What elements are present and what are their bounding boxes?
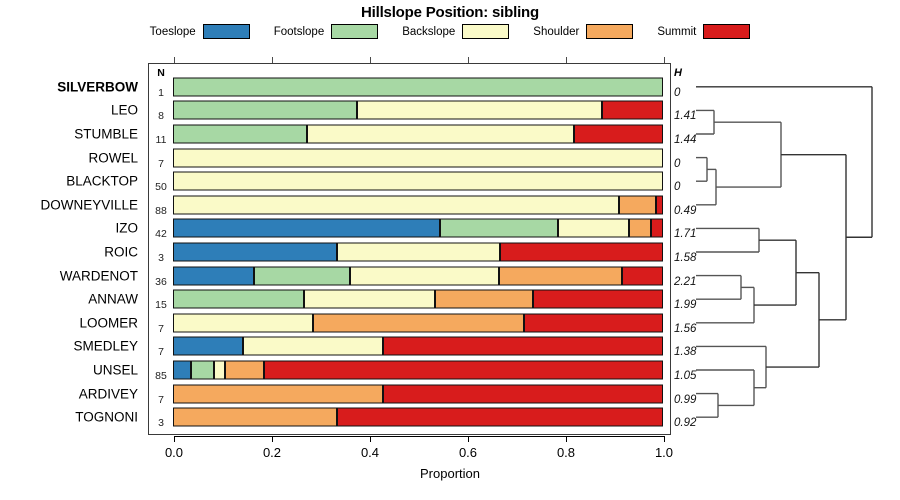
legend-label: Footslope: [274, 26, 325, 38]
row-label-ardivey: ARDIVEY: [79, 386, 138, 401]
bar-segment-summit: [524, 313, 664, 332]
legend-swatch-footslope: [331, 24, 378, 39]
bar-segment-footslope: [173, 125, 307, 144]
bar-segment-backslope: [173, 195, 619, 214]
row-label-blacktop: BLACKTOP: [66, 174, 138, 189]
stacked-bars: [174, 63, 664, 435]
legend-item-shoulder: Shoulder: [533, 24, 633, 39]
bar-segment-summit: [656, 195, 663, 214]
bar-segment-shoulder: [225, 361, 264, 380]
bar-row: [174, 243, 664, 262]
bar-segment-summit: [602, 101, 663, 120]
x-tick: [174, 436, 175, 442]
x-tick: [664, 436, 665, 442]
row-label-annaw: ANNAW: [88, 292, 138, 307]
dendrogram-svg: [676, 60, 900, 440]
bar-row: [174, 219, 664, 238]
row-label-roic: ROIC: [104, 245, 138, 260]
x-tick-label: 1.0: [634, 445, 694, 460]
legend-label: Shoulder: [533, 26, 579, 38]
bar-row: [174, 125, 664, 144]
bar-segment-summit: [264, 361, 663, 380]
chart-root: Hillslope Position: sibling ToeslopeFoot…: [0, 0, 900, 500]
bar-segment-backslope: [558, 219, 629, 238]
bar-segment-backslope: [173, 148, 663, 167]
bar-segment-footslope: [173, 290, 304, 309]
legend-item-backslope: Backslope: [402, 24, 509, 39]
x-axis-line: [174, 436, 664, 437]
legend-item-toeslope: Toeslope: [150, 24, 250, 39]
bar-segment-summit: [500, 243, 663, 262]
bar-segment-summit: [622, 266, 664, 285]
row-label-smedley: SMEDLEY: [73, 339, 138, 354]
bar-segment-footslope: [173, 77, 663, 96]
bar-segment-summit: [337, 408, 664, 427]
bar-row: [174, 77, 664, 96]
legend-label: Summit: [657, 26, 696, 38]
bar-row: [174, 337, 664, 356]
x-tick-label: 0.4: [340, 445, 400, 460]
legend: ToeslopeFootslopeBackslopeShoulderSummit: [0, 24, 900, 39]
bar-segment-backslope: [214, 361, 225, 380]
bar-row: [174, 408, 664, 427]
legend-item-footslope: Footslope: [274, 24, 379, 39]
bar-segment-footslope: [254, 266, 350, 285]
chart-title: Hillslope Position: sibling: [0, 4, 900, 21]
bar-segment-summit: [533, 290, 664, 309]
bar-segment-backslope: [173, 172, 663, 191]
bar-segment-shoulder: [435, 290, 533, 309]
bar-segment-shoulder: [499, 266, 622, 285]
bar-segment-backslope: [173, 313, 313, 332]
bar-segment-shoulder: [173, 384, 383, 403]
legend-swatch-backslope: [462, 24, 509, 39]
bar-segment-toeslope: [173, 219, 440, 238]
bar-row: [174, 313, 664, 332]
bar-segment-backslope: [307, 125, 574, 144]
legend-swatch-summit: [703, 24, 750, 39]
bar-segment-toeslope: [173, 361, 191, 380]
bar-segment-shoulder: [619, 195, 656, 214]
row-label-rowel: ROWEL: [88, 150, 138, 165]
x-axis-title: Proportion: [0, 466, 900, 481]
row-label-loomer: LOOMER: [79, 315, 138, 330]
bar-segment-backslope: [243, 337, 383, 356]
bar-row: [174, 384, 664, 403]
bar-row: [174, 290, 664, 309]
legend-swatch-shoulder: [586, 24, 633, 39]
legend-label: Backslope: [402, 26, 455, 38]
bar-segment-footslope: [191, 361, 214, 380]
frame-tick-top: [566, 57, 567, 63]
x-tick-label: 0.0: [144, 445, 204, 460]
row-label-silverbow: SILVERBOW: [57, 79, 138, 94]
frame-tick-top: [272, 57, 273, 63]
frame-tick-top: [370, 57, 371, 63]
bar-segment-summit: [574, 125, 663, 144]
row-label-stumble: STUMBLE: [74, 127, 138, 142]
row-label-leo: LEO: [111, 103, 138, 118]
bar-segment-toeslope: [173, 266, 254, 285]
x-tick-label: 0.8: [536, 445, 596, 460]
dendrogram: [676, 60, 900, 440]
row-label-column: SILVERBOWLEOSTUMBLEROWELBLACKTOPDOWNEYVI…: [0, 63, 146, 435]
frame-tick-top: [664, 57, 665, 63]
legend-label: Toeslope: [150, 26, 196, 38]
row-label-downeyville: DOWNEYVILLE: [40, 197, 138, 212]
bar-segment-backslope: [304, 290, 434, 309]
legend-item-summit: Summit: [657, 24, 750, 39]
bar-segment-footslope: [440, 219, 558, 238]
bar-segment-footslope: [173, 101, 357, 120]
x-tick: [468, 436, 469, 442]
legend-swatch-toeslope: [203, 24, 250, 39]
bar-row: [174, 266, 664, 285]
bar-segment-backslope: [350, 266, 499, 285]
frame-tick-top: [468, 57, 469, 63]
x-tick-label: 0.6: [438, 445, 498, 460]
bar-segment-backslope: [357, 101, 602, 120]
row-label-izo: IZO: [116, 221, 139, 236]
bar-row: [174, 361, 664, 380]
row-label-wardenot: WARDENOT: [60, 268, 138, 283]
x-tick: [566, 436, 567, 442]
bar-segment-summit: [383, 337, 663, 356]
bar-segment-toeslope: [173, 337, 243, 356]
bar-segment-summit: [651, 219, 663, 238]
bar-row: [174, 195, 664, 214]
x-tick-label: 0.2: [242, 445, 302, 460]
row-label-unsel: UNSEL: [93, 363, 138, 378]
bar-segment-shoulder: [629, 219, 651, 238]
bar-segment-shoulder: [173, 408, 336, 427]
bar-segment-backslope: [337, 243, 501, 262]
bar-row: [174, 172, 664, 191]
frame-tick-top: [174, 57, 175, 63]
bar-row: [174, 148, 664, 167]
bar-segment-shoulder: [313, 313, 524, 332]
x-tick: [272, 436, 273, 442]
row-label-tognoni: TOGNONI: [75, 410, 138, 425]
bar-segment-toeslope: [173, 243, 336, 262]
bar-row: [174, 101, 664, 120]
x-tick: [370, 436, 371, 442]
bar-segment-summit: [383, 384, 663, 403]
